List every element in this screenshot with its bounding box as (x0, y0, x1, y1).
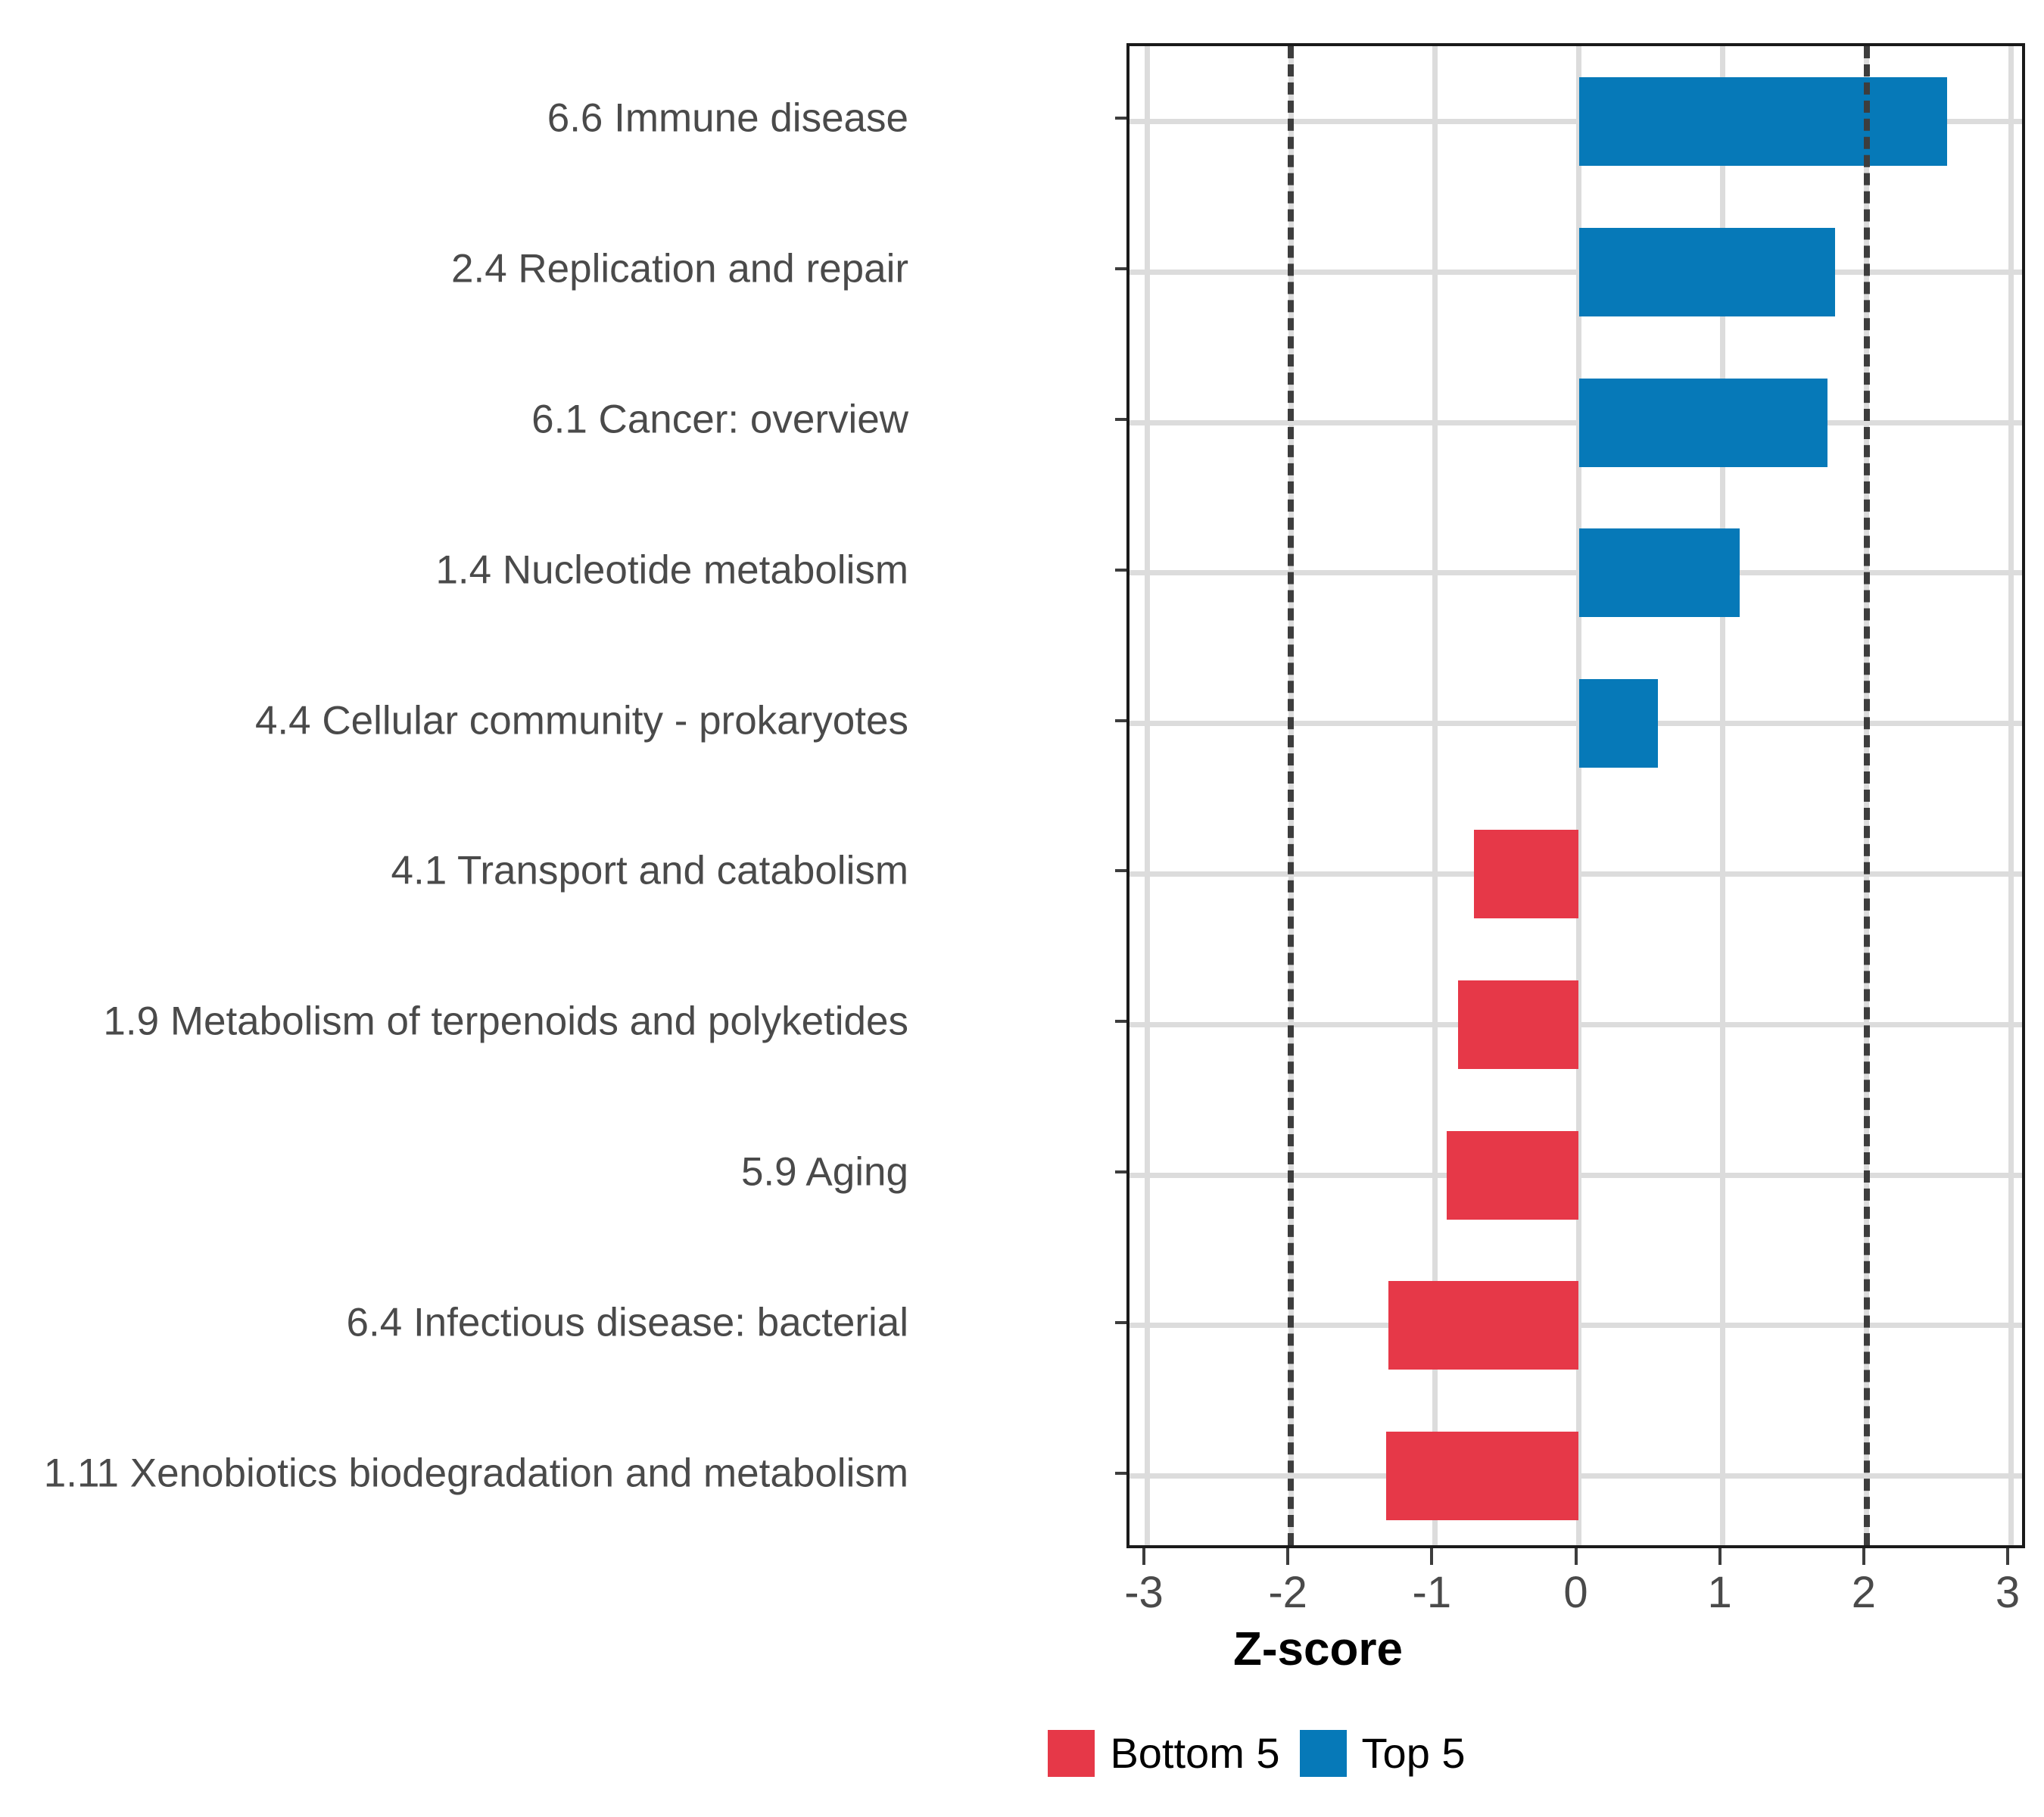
legend-items: Bottom 5Top 5 (1048, 1730, 1465, 1777)
y-axis-tick-label: 6.6 Immune disease (547, 98, 908, 139)
y-axis-tick-mark (1115, 418, 1126, 421)
legend-item[interactable]: Bottom 5 (1048, 1730, 1279, 1777)
bar (1579, 679, 1659, 768)
y-axis-tick-label: 1.4 Nucleotide metabolism (435, 550, 908, 590)
y-axis-tick-mark (1115, 267, 1126, 270)
chart-legend: Bottom 5Top 5 (0, 1730, 2044, 1777)
x-axis-title: Z-score (0, 1626, 2044, 1673)
y-axis-tick-mark (1115, 117, 1126, 120)
x-axis-tick-mark (1718, 1548, 1722, 1565)
legend-item[interactable]: Top 5 (1300, 1730, 1466, 1777)
y-axis-tick-mark (1115, 1020, 1126, 1023)
y-axis-tick-label: 4.1 Transport and catabolism (391, 851, 909, 891)
x-axis-tick-mark (2006, 1548, 2009, 1565)
bar (1579, 528, 1740, 617)
x-axis-tick-label: 0 (1563, 1571, 1588, 1615)
bar (1386, 1432, 1579, 1520)
bar (1579, 379, 1828, 467)
y-axis-tick-label: 5.9 Aging (741, 1152, 908, 1192)
y-axis-tick-label: 1.9 Metabolism of terpenoids and polyket… (103, 1002, 908, 1042)
legend-swatch (1048, 1730, 1095, 1777)
legend-label: Bottom 5 (1110, 1732, 1279, 1775)
x-axis-tick-mark (1286, 1548, 1289, 1565)
chart-root: 6.6 Immune disease2.4 Replication and re… (0, 0, 2044, 1817)
bar (1458, 980, 1579, 1069)
y-axis-tick-mark (1115, 569, 1126, 572)
x-axis-tick-label: 3 (1996, 1571, 2020, 1615)
x-axis-tick-mark (1142, 1548, 1145, 1565)
bar (1579, 77, 1948, 166)
reference-line (1288, 46, 1294, 1545)
x-axis-tick-mark (1430, 1548, 1433, 1565)
y-axis-tick-label: 6.4 Infectious disease: bacterial (347, 1302, 908, 1342)
y-axis-tick-label: 6.1 Cancer: overview (531, 400, 908, 440)
legend-label: Top 5 (1362, 1732, 1466, 1775)
x-axis-title-text: Z-score (1233, 1626, 1403, 1673)
y-axis-tick-mark (1115, 869, 1126, 872)
bar (1447, 1131, 1579, 1220)
y-axis-tick-mark (1115, 1170, 1126, 1173)
y-axis-tick-label: 1.11 Xenobiotics biodegradation and meta… (44, 1453, 908, 1493)
y-axis-tick-mark (1115, 1321, 1126, 1324)
plot-panel (1126, 43, 2025, 1548)
bar (1388, 1281, 1578, 1370)
y-axis-tick-label: 4.4 Cellular community - prokaryotes (255, 700, 908, 740)
x-axis-tick-label: -2 (1268, 1571, 1307, 1615)
legend-swatch (1300, 1730, 1347, 1777)
x-axis-tick-label: -3 (1124, 1571, 1164, 1615)
x-axis-tick-label: 2 (1852, 1571, 1876, 1615)
gridline-horizontal (1129, 570, 2022, 575)
bar (1474, 830, 1579, 918)
bar (1579, 228, 1835, 316)
x-axis-tick-label: -1 (1413, 1571, 1452, 1615)
gridline-horizontal (1129, 420, 2022, 425)
y-axis-tick-mark (1115, 1472, 1126, 1475)
y-axis-tick-label: 2.4 Replication and repair (451, 249, 908, 289)
x-axis-tick-label: 1 (1708, 1571, 1732, 1615)
x-axis-tick-mark (1862, 1548, 1865, 1565)
gridline-horizontal (1129, 721, 2022, 726)
gridline-horizontal (1129, 270, 2022, 275)
x-axis-tick-mark (1575, 1548, 1578, 1565)
y-axis-tick-mark (1115, 719, 1126, 722)
reference-line (1864, 46, 1870, 1545)
